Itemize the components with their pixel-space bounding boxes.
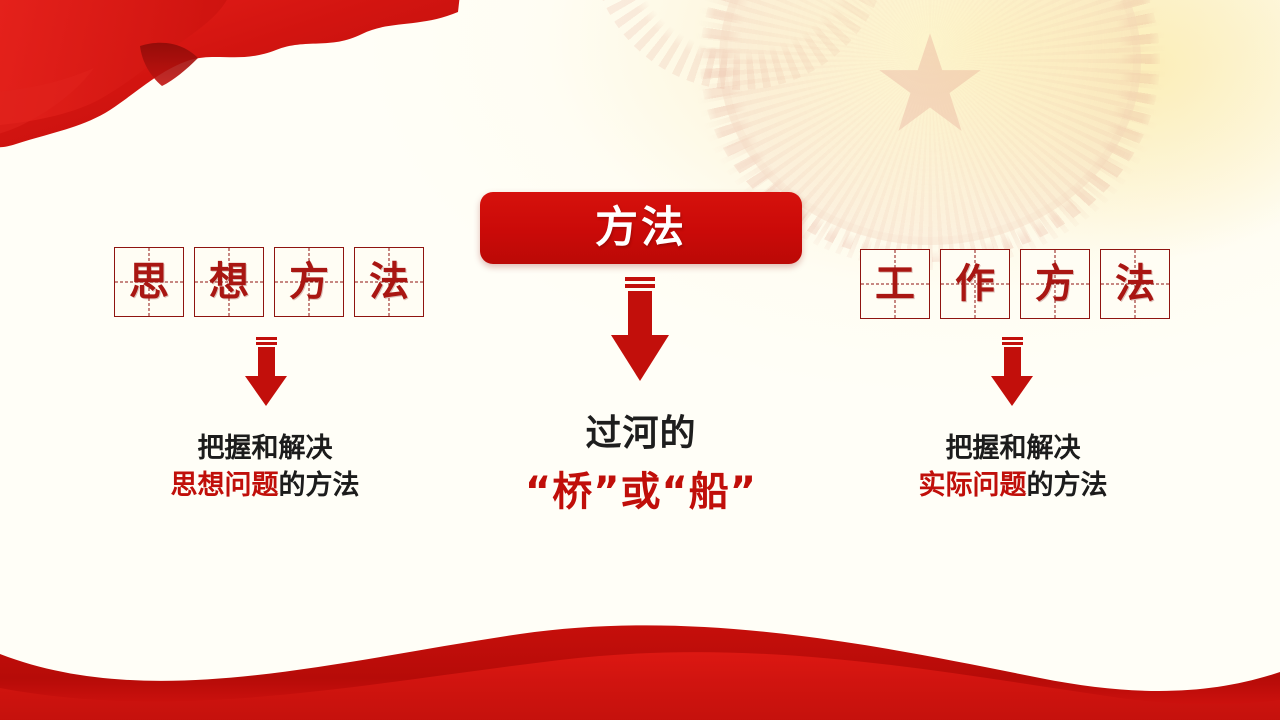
grid-cell-char: 法 [1115,264,1155,304]
grid-cell-char: 法 [369,262,409,302]
right-caption-line2: 实际问题的方法 [853,468,1173,505]
secondary-cog-emblem-icon [590,0,890,90]
right-character-grid: 工 作 方 法 [860,249,1170,319]
grid-cell: 工 [860,249,930,319]
grid-cell: 思 [114,247,184,317]
down-arrow-icon-left [240,337,292,409]
grid-cell: 方 [274,247,344,317]
left-caption: 把握和解决 思想问题的方法 [105,431,425,504]
left-caption-suffix: 的方法 [279,470,360,501]
left-caption-line2: 思想问题的方法 [105,468,425,505]
background-glow [900,0,1280,260]
right-caption-line1: 把握和解决 [853,431,1173,468]
right-caption-highlight: 实际问题 [919,470,1027,501]
red-wave-icon [0,602,1280,720]
grid-cell: 作 [940,249,1010,319]
grid-cell-char: 想 [209,262,249,302]
slide-canvas: 方法 思 想 [0,0,1280,720]
center-caption: 过河的 “桥”或“船” [471,410,811,519]
left-caption-line1: 把握和解决 [105,431,425,468]
center-caption-line1: 过河的 [471,410,811,459]
grid-cell-char: 思 [129,262,169,302]
left-caption-highlight: 思想问题 [171,470,279,501]
grid-cell-char: 方 [289,262,329,302]
method-badge-label: 方法 [595,207,687,250]
down-arrow-icon-center [603,277,677,385]
left-character-grid: 思 想 方 法 [114,247,424,317]
grid-cell-char: 方 [1035,264,1075,304]
center-caption-line2: “桥”或“船” [471,465,811,519]
method-badge[interactable]: 方法 [480,192,802,264]
grid-cell: 想 [194,247,264,317]
down-arrow-icon-right [986,337,1038,409]
emblem-star-icon [878,33,982,137]
grid-cell: 方 [1020,249,1090,319]
grid-cell: 法 [354,247,424,317]
right-caption-suffix: 的方法 [1027,470,1108,501]
grid-cell-char: 工 [875,264,915,304]
grid-cell-char: 作 [955,264,995,304]
right-caption: 把握和解决 实际问题的方法 [853,431,1173,504]
grid-cell: 法 [1100,249,1170,319]
red-flag-icon [0,0,460,209]
